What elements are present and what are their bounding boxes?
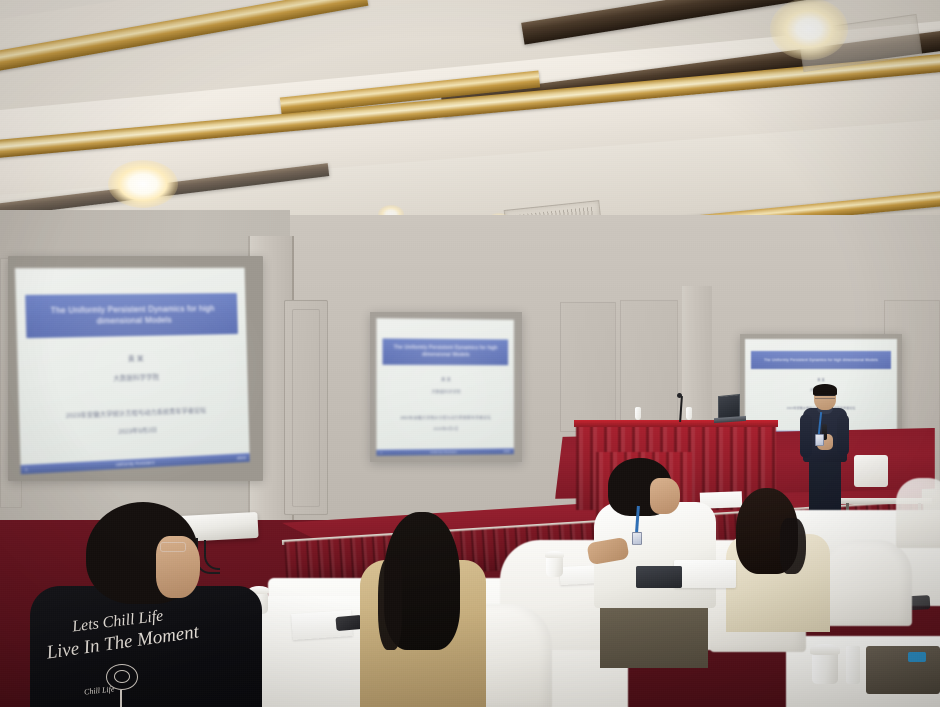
presenter-arm-left — [800, 414, 812, 458]
slide-page-number: 1 — [25, 467, 28, 472]
equipment-box — [674, 560, 736, 588]
slide-date-line: 2023年9月2日 — [376, 426, 513, 433]
water-bottle — [635, 407, 641, 420]
bag-strap — [908, 652, 926, 662]
conference-room-photo: The Uniformly Persistent Dynamics for hi… — [0, 0, 940, 707]
left-projection-screen: The Uniformly Persistent Dynamics for hi… — [8, 256, 263, 481]
chair-cover — [896, 478, 940, 548]
attendee-hair-strand — [780, 518, 806, 574]
slide-speaker-name: 黄 某 — [745, 377, 897, 382]
teacup[interactable] — [546, 556, 563, 577]
attendee-far-right — [726, 488, 846, 638]
presenter-arm-right — [837, 414, 849, 456]
attendee-hair-strand — [378, 558, 402, 650]
presenter-badge — [815, 434, 824, 446]
attendee-center — [360, 512, 510, 707]
ceiling-spotlight — [108, 160, 178, 208]
water-bottle — [686, 407, 692, 420]
attendee-face — [650, 478, 680, 514]
slide-event-line: 2023年安徽大学统计方程与动力系统青年学者论坛 — [376, 415, 513, 422]
attendee-badge — [632, 532, 642, 545]
wall-panel — [560, 302, 616, 432]
slide-footer-center: Uniformly Persistent — [430, 450, 457, 454]
microphone-head — [677, 393, 682, 398]
teacup-lid — [810, 644, 840, 655]
slide-speaker-name: 黄 某 — [17, 351, 247, 367]
slide-page-number: 1 — [381, 451, 383, 455]
water-bottle[interactable] — [846, 646, 860, 684]
attendee-front-left: Lets Chill Life Live In The Moment Chill… — [30, 500, 290, 707]
teacup[interactable] — [812, 652, 838, 684]
eyeglasses — [160, 542, 186, 552]
rose-stem — [120, 690, 122, 707]
slide-title: The Uniformly Persistent Dynamics for hi… — [382, 338, 508, 365]
slide-affiliation: 大数据科学学院 — [376, 389, 513, 395]
head-table-top — [574, 420, 778, 427]
ceiling-spotlight — [770, 0, 848, 60]
center-projection-screen: The Uniformly Persistent Dynamics for hi… — [370, 312, 522, 462]
rose-graphic — [114, 670, 130, 683]
bag — [866, 646, 940, 694]
slide-footer-right: 2023 — [237, 455, 246, 460]
equipment-box-dark — [636, 566, 682, 588]
slide-date-line: 2023年9月2日 — [20, 421, 249, 440]
teacup-lid — [545, 551, 564, 558]
eyeglasses — [815, 395, 835, 399]
slide-title: The Uniformly Persistent Dynamics for hi… — [751, 351, 891, 369]
slide-footer-center: Uniformly Persistent — [115, 460, 154, 467]
slide-affiliation: 大数据科学学院 — [18, 369, 248, 386]
slide-content: The Uniformly Persistent Dynamics for hi… — [15, 268, 250, 475]
slide-title: The Uniformly Persistent Dynamics for hi… — [25, 293, 237, 338]
slide-speaker-name: 黄 某 — [376, 377, 513, 383]
smartphone[interactable] — [335, 615, 362, 631]
slide-event-line: 2023年安徽大学统计方程与动力系统青年学者论坛 — [19, 404, 248, 422]
wall-panel — [620, 300, 678, 432]
slide-content: The Uniformly Persistent Dynamics for hi… — [376, 318, 513, 456]
slide-footer-right: 2023 — [503, 449, 510, 453]
wall-panel — [292, 309, 320, 507]
